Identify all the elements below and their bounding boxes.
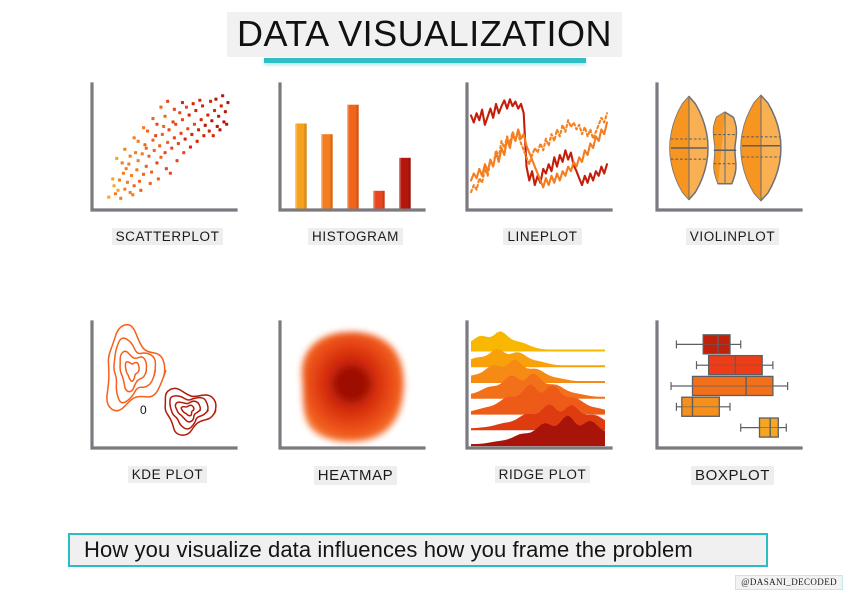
scatter-point	[142, 126, 145, 129]
kde-contour-ring	[125, 362, 139, 381]
scatter-point	[130, 174, 133, 177]
scatter-point	[123, 188, 126, 191]
scatter-point	[138, 180, 141, 183]
scatter-point	[176, 159, 179, 162]
scatter-point	[151, 139, 154, 142]
scatter-point	[134, 151, 137, 154]
panel-label-ridgeplot: RIDGE PLOT	[455, 466, 630, 484]
scatter-point	[158, 144, 161, 147]
panel-scatterplot: SCATTERPLOT	[80, 80, 255, 255]
scatter-point	[149, 182, 152, 185]
scatter-point	[133, 184, 136, 187]
histogram-bar-highlight	[399, 158, 401, 209]
panel-label-boxplot: BOXPLOT	[645, 466, 820, 485]
scatter-point	[221, 94, 224, 97]
violinplot-plot-area	[645, 80, 805, 222]
ridgeplot-svg	[455, 318, 615, 460]
scatter-point	[194, 109, 197, 112]
heatmap-hot-core	[333, 366, 371, 402]
scatter-point	[159, 156, 162, 159]
scatter-point	[170, 147, 173, 150]
histogram-bar-shade	[304, 124, 306, 209]
scatter-point	[126, 181, 129, 184]
panel-boxplot: BOXPLOT	[645, 318, 820, 493]
scatter-point	[125, 167, 128, 170]
panel-label-text: LINEPLOT	[503, 228, 581, 245]
histogram-svg	[268, 80, 428, 222]
scatter-point	[159, 106, 162, 109]
ridge-rows-group	[471, 331, 605, 445]
panel-label-text: VIOLINPLOT	[686, 228, 780, 245]
scatter-point	[208, 130, 211, 133]
lineplot-svg	[455, 80, 615, 222]
scatter-point	[111, 177, 114, 180]
boxplot-plot-area	[645, 318, 805, 460]
scatter-point	[209, 100, 212, 103]
scatter-point	[216, 125, 219, 128]
scatter-point	[192, 102, 195, 105]
scatter-point	[226, 101, 229, 104]
scatter-point	[184, 138, 187, 141]
violin-shape-left-half	[741, 95, 761, 200]
scatter-point	[198, 99, 201, 102]
histogram-bar-highlight	[373, 191, 375, 209]
panel-label-text: BOXPLOT	[691, 466, 774, 485]
scatter-point	[164, 151, 167, 154]
scatter-point	[201, 104, 204, 107]
scatter-point	[218, 128, 221, 131]
scatter-point	[129, 191, 132, 194]
scatter-point	[166, 141, 169, 144]
heatmap-svg	[268, 318, 428, 460]
ridgeplot-plot-area	[455, 318, 615, 460]
violinplot-svg	[645, 80, 805, 222]
kde-contour-ring	[170, 396, 208, 429]
scatter-point	[180, 132, 183, 135]
panel-label-text: RIDGE PLOT	[495, 466, 591, 483]
scatter-point	[119, 197, 122, 200]
scatter-point	[145, 147, 148, 150]
scatter-point	[190, 133, 193, 136]
scatter-point	[173, 136, 176, 139]
scatter-point	[137, 140, 140, 143]
scatter-point	[217, 115, 220, 118]
kde-contour-ring	[181, 405, 194, 416]
title-block: DATA VISUALIZATION	[0, 12, 849, 63]
panel-kdeplot: 0 KDE PLOT	[80, 318, 255, 493]
scatter-point	[189, 146, 192, 149]
infographic-page: DATA VISUALIZATION SCATTERPLOT	[0, 0, 849, 600]
scatter-point	[196, 140, 199, 143]
title-underline	[264, 58, 586, 63]
scatter-point	[141, 152, 144, 155]
histogram-bars-group	[295, 105, 410, 209]
scatter-point	[113, 184, 116, 187]
scatter-point	[213, 109, 216, 112]
scatter-point	[162, 125, 165, 128]
panel-label-text: HEATMAP	[314, 466, 398, 485]
heatmap-plot-area	[268, 318, 428, 460]
scatter-point	[114, 192, 117, 195]
kdeplot-plot-area: 0	[80, 318, 240, 460]
scatter-point	[177, 142, 180, 145]
scatter-point	[115, 157, 118, 160]
heatmap-blob-group	[302, 332, 404, 442]
page-title: DATA VISUALIZATION	[227, 12, 622, 57]
scatter-point	[151, 117, 154, 120]
kde-contours-group	[107, 325, 216, 436]
scatter-point	[220, 104, 223, 107]
scatter-point	[121, 161, 124, 164]
scatter-point	[161, 133, 164, 136]
scatter-point	[186, 127, 189, 130]
lineplot-plot-area	[455, 80, 615, 222]
kde-zero-annotation: 0	[140, 403, 147, 417]
histogram-bar-shade	[330, 134, 332, 208]
scatter-point	[182, 151, 185, 154]
panel-label-text: SCATTERPLOT	[112, 228, 224, 245]
scatter-point	[127, 163, 130, 166]
scatter-point	[147, 155, 150, 158]
scatter-point	[202, 134, 205, 137]
scatter-point	[168, 128, 171, 131]
panel-label-heatmap: HEATMAP	[268, 466, 443, 485]
scatter-point	[225, 123, 228, 126]
histogram-plot-area	[268, 80, 428, 222]
scatter-point	[185, 106, 188, 109]
panel-ridgeplot: RIDGE PLOT	[455, 318, 630, 493]
scatter-point	[137, 159, 140, 162]
panel-label-text: KDE PLOT	[128, 466, 208, 483]
attribution-badge: @DASANI_DECODED	[735, 575, 843, 590]
panel-label-lineplot: LINEPLOT	[455, 228, 630, 246]
scatter-point	[214, 98, 217, 101]
scatter-point	[197, 128, 200, 131]
scatter-point	[122, 172, 125, 175]
kde-contour-ring	[120, 351, 146, 391]
scatter-point	[164, 115, 167, 118]
scatter-point	[169, 172, 172, 175]
scatter-point	[142, 173, 145, 176]
histogram-bar-highlight	[347, 105, 349, 209]
panel-label-kdeplot: KDE PLOT	[80, 466, 255, 484]
scatter-point	[129, 155, 132, 158]
scatter-point	[178, 111, 181, 114]
ridge-row-area	[471, 331, 605, 350]
histogram-bar-shade	[382, 191, 384, 209]
scatter-point	[222, 120, 225, 123]
scatter-point	[154, 134, 157, 137]
scatter-point	[188, 114, 191, 117]
boxplot-svg	[645, 318, 805, 460]
scatter-point	[181, 118, 184, 121]
panel-heatmap: HEATMAP	[268, 318, 443, 493]
scatter-point	[206, 114, 209, 117]
tagline-banner: How you visualize data influences how yo…	[68, 533, 768, 567]
panel-histogram: HISTOGRAM	[268, 80, 443, 255]
scatter-point	[135, 168, 138, 171]
panel-label-histogram: HISTOGRAM	[268, 228, 443, 246]
scatter-point	[224, 110, 227, 113]
panel-violinplot: VIOLINPLOT	[645, 80, 820, 255]
scatter-point	[145, 165, 148, 168]
panel-label-scatterplot: SCATTERPLOT	[80, 228, 255, 246]
scatter-point	[117, 189, 120, 192]
scatterplot-plot-area	[80, 80, 240, 222]
scatter-point	[157, 177, 160, 180]
kdeplot-svg: 0	[80, 318, 240, 460]
histogram-bar-shade	[356, 105, 358, 209]
scatter-point	[172, 120, 175, 123]
scatter-point	[107, 196, 110, 199]
scatter-point	[174, 123, 177, 126]
scatterplot-svg	[80, 80, 240, 222]
scatter-point	[155, 123, 158, 126]
scatter-point	[118, 179, 121, 182]
panel-label-text: HISTOGRAM	[308, 228, 403, 245]
scatter-point	[193, 123, 196, 126]
histogram-bar-highlight	[321, 134, 323, 208]
panel-label-violinplot: VIOLINPLOT	[645, 228, 820, 246]
scatter-point	[153, 149, 156, 152]
scatter-point	[200, 118, 203, 121]
histogram-bar-shade	[408, 158, 410, 209]
scatter-points-group	[107, 94, 229, 200]
scatter-point	[131, 193, 134, 196]
violin-shapes-group	[670, 95, 781, 200]
panel-lineplot: LINEPLOT	[455, 80, 630, 255]
scatter-point	[212, 134, 215, 137]
scatter-point	[166, 100, 169, 103]
lineplot-series-group	[471, 99, 607, 192]
histogram-bar-highlight	[295, 124, 297, 209]
kde-contour-ring	[107, 325, 166, 411]
scatter-point	[210, 119, 213, 122]
scatter-point	[150, 171, 153, 174]
boxplot-boxes-group	[671, 335, 788, 437]
axis-lines	[92, 84, 236, 210]
scatter-point	[165, 167, 168, 170]
lineplot-series-path	[471, 99, 607, 185]
scatter-point	[139, 189, 142, 192]
scatter-point	[146, 130, 149, 133]
scatter-point	[143, 143, 146, 146]
scatter-point	[204, 124, 207, 127]
scatter-point	[155, 161, 158, 164]
scatter-point	[181, 101, 184, 104]
scatter-point	[123, 148, 126, 151]
scatter-point	[133, 136, 136, 139]
tagline-text: How you visualize data influences how yo…	[84, 537, 693, 563]
scatter-point	[173, 108, 176, 111]
